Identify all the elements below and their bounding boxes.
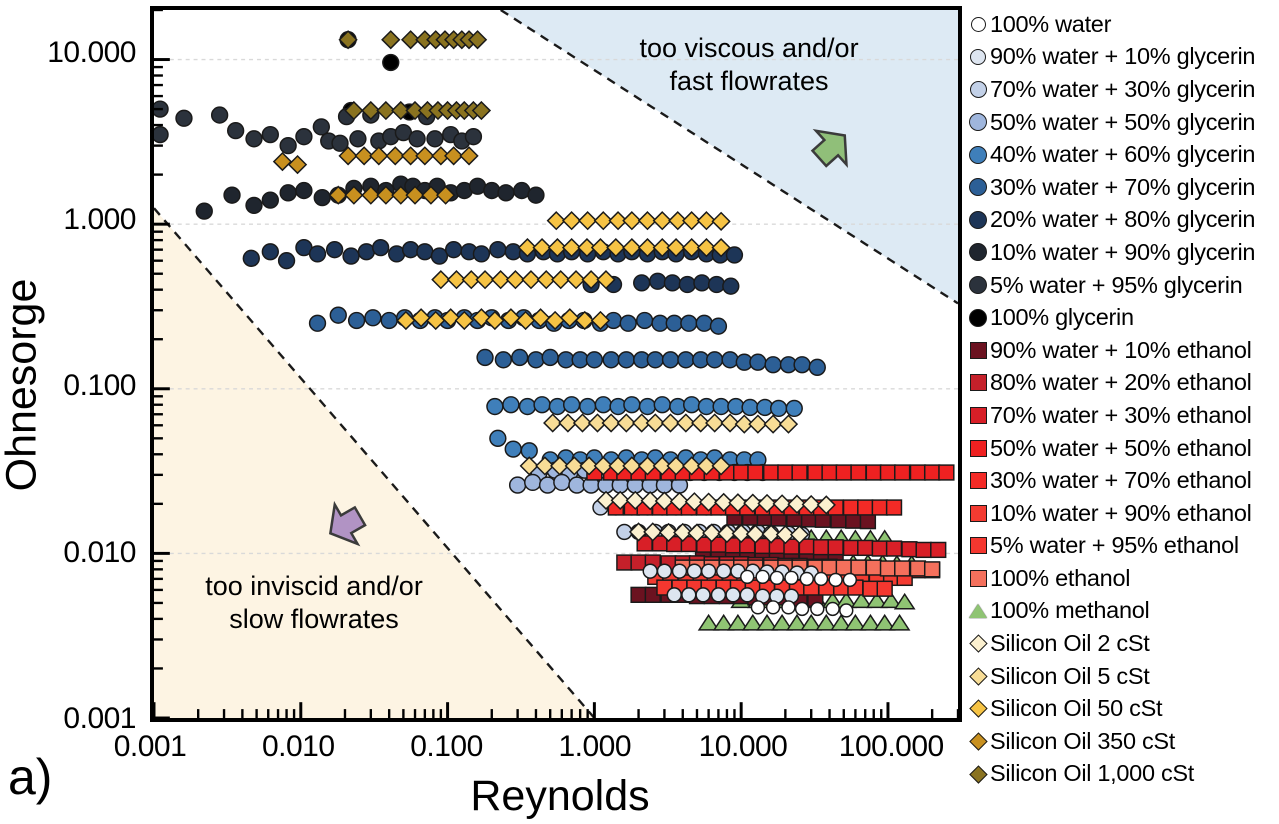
legend-item[interactable]: 5% water + 95% ethanol xyxy=(966,530,1279,563)
figure-panel: Ohnesorge 10.0001.0000.1000.0100.001 too… xyxy=(0,0,1279,824)
legend-label: 90% water + 10% glycerin xyxy=(990,43,1255,70)
legend-label: 5% water + 95% ethanol xyxy=(990,532,1239,559)
data-point xyxy=(224,187,240,203)
legend-label: 70% water + 30% ethanol xyxy=(990,402,1252,429)
data-point xyxy=(262,127,278,143)
legend-marker-circle-icon xyxy=(966,178,990,196)
x-axis-label: Reynolds xyxy=(380,772,740,821)
data-point xyxy=(800,572,813,585)
data-point xyxy=(473,246,489,262)
legend-item[interactable]: 20% water + 80% glycerin xyxy=(966,204,1279,237)
data-point xyxy=(528,187,544,203)
data-point xyxy=(154,127,168,143)
legend-item[interactable]: 90% water + 10% ethanol xyxy=(966,334,1279,367)
legend-label: Silicon Oil 2 cSt xyxy=(990,630,1149,657)
too-viscous-line2: fast flowrates xyxy=(584,65,914,98)
data-point xyxy=(694,275,710,291)
data-point xyxy=(280,185,296,201)
data-point xyxy=(796,602,809,615)
data-point xyxy=(296,129,312,145)
y-tick-label: 0.100 xyxy=(0,369,136,403)
x-tick-label: 100.000 xyxy=(801,730,981,764)
data-point xyxy=(764,465,779,480)
data-point xyxy=(528,352,544,368)
legend-item[interactable]: 5% water + 95% glycerin xyxy=(966,269,1279,302)
legend-label: Silicon Oil 350 cSt xyxy=(990,728,1175,755)
data-point xyxy=(580,399,596,415)
data-point xyxy=(808,465,823,480)
data-point xyxy=(446,242,462,258)
data-point xyxy=(678,352,694,368)
data-point xyxy=(470,178,486,194)
legend-marker-circle-icon xyxy=(966,17,990,32)
data-point xyxy=(634,275,650,291)
data-point xyxy=(262,244,278,260)
data-point xyxy=(289,156,306,173)
data-point xyxy=(792,465,807,480)
legend-label: 80% water + 20% ethanol xyxy=(990,369,1252,396)
panel-identifier: a) xyxy=(8,748,52,806)
data-point xyxy=(243,250,259,266)
too-viscous-annotation: too viscous and/or fast flowrates xyxy=(584,32,914,98)
data-point xyxy=(890,615,909,630)
legend-item[interactable]: 100% glycerin xyxy=(966,301,1279,334)
legend-label: Silicon Oil 5 cSt xyxy=(990,663,1149,690)
data-point xyxy=(902,542,917,557)
too-inviscid-line2: slow flowrates xyxy=(164,603,464,636)
data-point xyxy=(709,277,725,293)
legend-item[interactable]: 50% water + 50% glycerin xyxy=(966,106,1279,139)
data-point xyxy=(534,397,550,413)
data-point xyxy=(505,244,521,260)
too-inviscid-line1: too inviscid and/or xyxy=(164,570,464,603)
legend-label: 90% water + 10% ethanol xyxy=(990,337,1252,364)
data-point xyxy=(365,310,381,326)
data-point xyxy=(785,571,798,584)
data-point xyxy=(652,315,668,331)
data-point xyxy=(771,400,787,416)
legend-label: 50% water + 50% ethanol xyxy=(990,435,1252,462)
data-point xyxy=(712,588,726,602)
data-point xyxy=(654,397,670,413)
data-point xyxy=(858,540,873,555)
data-point xyxy=(767,601,780,614)
too-inviscid-annotation: too inviscid and/or slow flowrates xyxy=(164,570,464,636)
data-point xyxy=(872,500,887,515)
data-point xyxy=(314,190,330,206)
data-point xyxy=(741,570,754,583)
data-point xyxy=(313,119,329,135)
data-point xyxy=(858,500,873,515)
data-point xyxy=(495,352,511,368)
data-point xyxy=(350,131,366,147)
legend-label: Silicon Oil 50 cSt xyxy=(990,695,1162,722)
data-point xyxy=(699,399,715,415)
legend-label: 10% water + 90% glycerin xyxy=(990,239,1255,266)
data-point xyxy=(925,562,940,577)
data-point xyxy=(851,560,866,575)
data-point xyxy=(916,542,931,557)
data-point xyxy=(751,601,764,614)
legend-item[interactable]: 30% water + 70% glycerin xyxy=(966,171,1279,204)
legend-marker-circle-icon xyxy=(966,309,990,327)
data-point xyxy=(540,477,556,493)
legend-label: 10% water + 90% ethanol xyxy=(990,500,1252,527)
legend-item[interactable]: Silicon Oil 5 cSt xyxy=(966,660,1279,693)
data-point xyxy=(887,500,902,515)
data-point xyxy=(742,400,758,416)
data-point xyxy=(280,138,296,154)
legend-item[interactable]: 30% water + 70% ethanol xyxy=(966,464,1279,497)
series-40-water-60-glycerin xyxy=(487,397,802,468)
data-point xyxy=(814,540,829,555)
data-point xyxy=(432,248,448,264)
series-silicon-oil-50-cst xyxy=(397,212,729,329)
data-point xyxy=(643,564,657,578)
data-point xyxy=(681,315,697,331)
data-point xyxy=(822,465,837,480)
data-point xyxy=(416,147,433,164)
legend-marker-diamond-icon xyxy=(966,735,990,748)
legend-marker-square-icon xyxy=(966,407,990,424)
data-point xyxy=(510,477,526,493)
data-point xyxy=(734,465,749,480)
data-point xyxy=(696,588,710,602)
legend-label: Silicon Oil 1,000 cSt xyxy=(990,760,1194,787)
legend-marker-circle-icon xyxy=(966,81,990,98)
data-point xyxy=(279,253,295,269)
data-point xyxy=(860,514,875,529)
legend-marker-square-icon xyxy=(966,472,990,489)
y-tick-label: 0.010 xyxy=(0,536,136,570)
legend-label: 20% water + 80% glycerin xyxy=(990,206,1255,233)
data-point xyxy=(711,318,727,334)
data-point xyxy=(228,123,244,139)
data-point xyxy=(664,275,680,291)
data-point xyxy=(490,430,506,446)
data-point xyxy=(895,465,910,480)
data-point xyxy=(829,573,842,586)
series-silicon-oil-1-000-cst xyxy=(339,31,490,119)
legend-item[interactable]: 10% water + 90% ethanol xyxy=(966,497,1279,530)
data-point xyxy=(196,203,212,219)
data-point xyxy=(359,244,375,260)
legend-marker-square-icon xyxy=(966,440,990,457)
data-point xyxy=(484,183,500,199)
data-point xyxy=(498,185,514,201)
data-point xyxy=(726,588,740,602)
data-point xyxy=(877,581,892,596)
data-point xyxy=(563,212,580,229)
data-point xyxy=(682,588,696,602)
data-point xyxy=(246,197,262,213)
legend-marker-circle-icon xyxy=(966,113,990,131)
data-point xyxy=(666,315,682,331)
data-point xyxy=(409,131,425,147)
data-point xyxy=(520,399,536,415)
data-point xyxy=(330,307,346,323)
legend-item[interactable]: 100% water xyxy=(966,8,1279,41)
data-point xyxy=(925,465,940,480)
legend-marker-diamond-icon xyxy=(966,670,990,683)
data-point xyxy=(780,416,797,433)
data-point xyxy=(828,540,843,555)
legend-item[interactable]: Silicon Oil 350 cSt xyxy=(966,725,1279,758)
data-point xyxy=(881,465,896,480)
legend-item[interactable]: 70% water + 30% glycerin xyxy=(966,73,1279,106)
legend-marker-diamond-icon xyxy=(966,768,990,781)
data-point xyxy=(631,587,646,602)
data-point xyxy=(327,242,343,258)
data-point xyxy=(815,572,828,585)
data-point xyxy=(748,465,763,480)
legend-label: 30% water + 70% glycerin xyxy=(990,174,1255,201)
data-point xyxy=(650,273,666,289)
legend-marker-square-icon xyxy=(966,342,990,359)
data-point xyxy=(427,131,443,147)
legend-item[interactable]: 80% water + 20% ethanol xyxy=(966,367,1279,400)
data-point xyxy=(663,352,679,368)
data-point xyxy=(564,397,580,413)
data-point xyxy=(640,399,656,415)
data-point xyxy=(310,246,326,262)
legend-label: 5% water + 95% glycerin xyxy=(990,272,1242,299)
data-point xyxy=(503,397,519,413)
legend-label: 50% water + 50% glycerin xyxy=(990,109,1255,136)
data-point xyxy=(782,601,795,614)
scatter-plot-area: too viscous and/or fast flowrates too in… xyxy=(150,6,962,722)
y-tick-label: 10.000 xyxy=(0,36,136,70)
legend-marker-square-icon xyxy=(966,374,990,391)
data-point xyxy=(722,352,738,368)
legend-marker-circle-icon xyxy=(966,146,990,164)
data-point xyxy=(809,359,825,375)
data-point xyxy=(525,474,541,490)
data-point xyxy=(770,571,783,584)
legend-item[interactable]: Silicon Oil 2 cSt xyxy=(966,627,1279,660)
data-point xyxy=(558,352,574,368)
data-point xyxy=(572,352,588,368)
data-point xyxy=(713,399,729,415)
data-point xyxy=(667,588,681,602)
data-point xyxy=(836,465,851,480)
legend-label: 100% ethanol xyxy=(990,565,1130,592)
legend-marker-circle-icon xyxy=(966,243,990,261)
data-point xyxy=(684,397,700,413)
data-point xyxy=(512,350,528,366)
data-point xyxy=(863,581,878,596)
data-point xyxy=(811,602,824,615)
legend-label: 100% methanol xyxy=(990,597,1149,624)
legend-label: 70% water + 30% glycerin xyxy=(990,76,1255,103)
legend-item[interactable]: 10% water + 90% glycerin xyxy=(966,236,1279,269)
data-point xyxy=(490,242,506,258)
data-point xyxy=(679,277,695,293)
data-point xyxy=(872,541,887,556)
data-point xyxy=(296,183,312,199)
data-point xyxy=(657,564,671,578)
data-point xyxy=(939,465,954,480)
data-point xyxy=(637,313,653,329)
legend-marker-square-icon xyxy=(966,537,990,554)
data-point xyxy=(569,477,585,493)
data-point xyxy=(382,31,399,48)
legend-item[interactable]: 50% water + 50% ethanol xyxy=(966,432,1279,465)
legend-label: 100% water xyxy=(990,11,1111,38)
legend-item[interactable]: Silicon Oil 1,000 cSt xyxy=(966,758,1279,791)
data-point xyxy=(750,354,766,370)
data-point xyxy=(505,441,521,457)
legend-item[interactable]: 40% water + 60% glycerin xyxy=(966,138,1279,171)
data-point xyxy=(702,564,716,578)
legend-item[interactable]: 100% ethanol xyxy=(966,562,1279,595)
data-point xyxy=(740,588,754,602)
legend-item[interactable]: Silicon Oil 50 cSt xyxy=(966,692,1279,725)
data-point xyxy=(713,213,730,230)
legend-label: 30% water + 70% ethanol xyxy=(990,467,1252,494)
data-point xyxy=(647,352,663,368)
data-point xyxy=(460,147,477,164)
data-point xyxy=(274,153,291,170)
data-point xyxy=(723,278,739,294)
data-point xyxy=(756,570,769,583)
data-point xyxy=(403,242,419,258)
legend-marker-diamond-icon xyxy=(966,637,990,650)
data-point xyxy=(246,131,262,147)
data-point xyxy=(844,500,859,515)
data-point xyxy=(673,564,687,578)
legend-marker-triangle-icon xyxy=(966,604,990,618)
data-point xyxy=(931,542,946,557)
data-point xyxy=(728,399,744,415)
data-point xyxy=(586,352,602,368)
data-point xyxy=(487,399,503,415)
data-point xyxy=(717,564,731,578)
legend-item[interactable]: 70% water + 30% ethanol xyxy=(966,399,1279,432)
data-point xyxy=(851,465,866,480)
data-point xyxy=(778,465,793,480)
legend-marker-circle-icon xyxy=(966,49,990,65)
data-point xyxy=(514,183,530,199)
data-point xyxy=(370,147,387,164)
data-point xyxy=(381,313,397,329)
legend-marker-circle-icon xyxy=(966,211,990,229)
data-point xyxy=(620,315,636,331)
data-point xyxy=(687,564,701,578)
data-point xyxy=(707,352,723,368)
data-point xyxy=(617,555,632,570)
legend-marker-circle-icon xyxy=(966,276,990,294)
too-viscous-line1: too viscous and/or xyxy=(584,32,914,65)
data-point xyxy=(887,541,902,556)
data-point xyxy=(262,192,278,208)
data-point xyxy=(542,350,558,366)
data-point xyxy=(349,313,365,329)
data-point xyxy=(417,244,433,260)
legend-item[interactable]: 100% methanol xyxy=(966,595,1279,628)
data-point xyxy=(549,399,565,415)
data-point xyxy=(895,561,910,576)
data-point xyxy=(910,561,925,576)
data-point xyxy=(595,397,611,413)
data-point xyxy=(786,400,802,416)
y-tick-label: 1.000 xyxy=(0,203,136,237)
data-point xyxy=(844,540,859,555)
data-point xyxy=(696,315,712,331)
data-point xyxy=(477,350,493,366)
data-point xyxy=(866,560,881,575)
data-point xyxy=(866,465,881,480)
data-point xyxy=(310,315,326,331)
data-point xyxy=(618,352,634,368)
data-point xyxy=(895,594,914,609)
data-point xyxy=(836,560,851,575)
legend-item[interactable]: 90% water + 10% glycerin xyxy=(966,41,1279,74)
data-point xyxy=(383,55,399,71)
data-point xyxy=(840,604,853,617)
legend-label: 100% glycerin xyxy=(990,304,1134,331)
legend: 100% water90% water + 10% glycerin70% wa… xyxy=(966,8,1279,788)
data-point xyxy=(176,110,192,126)
data-point xyxy=(843,573,856,586)
legend-marker-square-icon xyxy=(966,570,990,587)
data-point xyxy=(212,107,228,123)
legend-label: 40% water + 60% glycerin xyxy=(990,141,1255,168)
data-point xyxy=(910,465,925,480)
data-point xyxy=(881,561,896,576)
data-point xyxy=(343,248,359,264)
data-point xyxy=(554,474,570,490)
data-point xyxy=(826,602,839,615)
data-point xyxy=(603,352,619,368)
data-point xyxy=(794,357,810,373)
legend-marker-diamond-icon xyxy=(966,702,990,715)
legend-marker-square-icon xyxy=(966,505,990,522)
data-point xyxy=(466,129,482,145)
data-point xyxy=(373,240,389,256)
data-point xyxy=(624,397,640,413)
data-point xyxy=(765,357,781,373)
